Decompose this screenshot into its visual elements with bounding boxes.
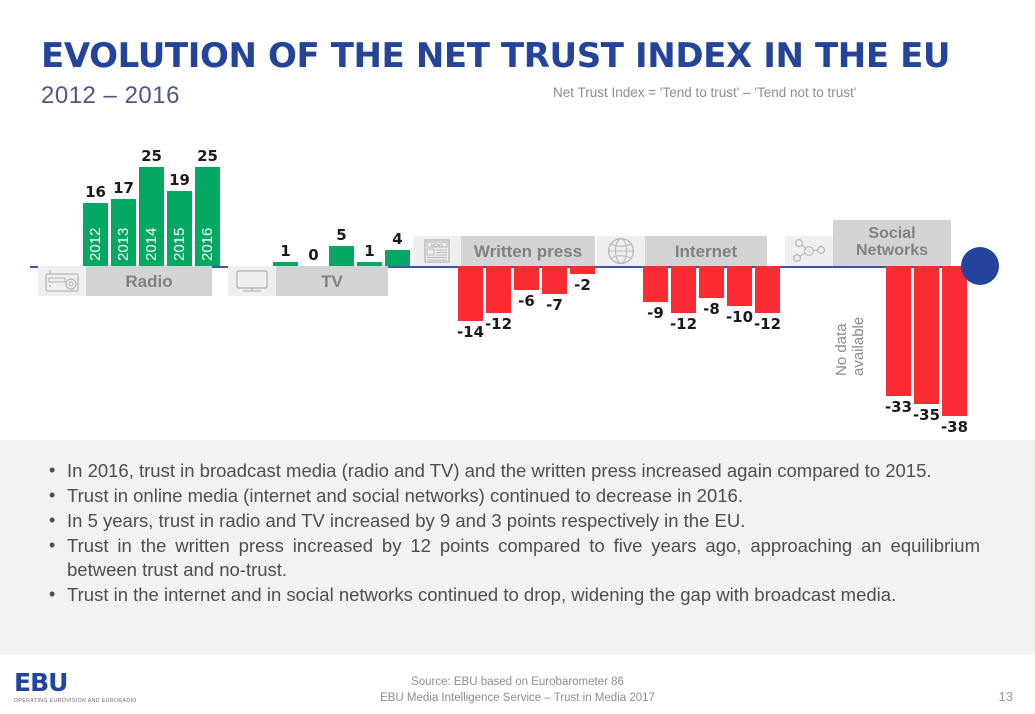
bar-internet-2016: [755, 266, 780, 313]
tv-icon: [228, 266, 276, 296]
bar-value-label: -14: [456, 323, 486, 341]
bar-value-label: 4: [383, 230, 413, 248]
bar-value-label: 0: [299, 246, 329, 264]
bar-social-networks-2015: [914, 266, 939, 404]
insight-bullet: In 2016, trust in broadcast media (radio…: [45, 459, 980, 483]
category-label-internet: Internet: [645, 236, 767, 266]
category-band-social-networks: ASocialNetworks: [785, 236, 951, 266]
bar-year-label: 2014: [143, 228, 160, 261]
category-label-radio: Radio: [86, 266, 212, 296]
bar-internet-2015: [727, 266, 752, 306]
page-title: EVOLUTION OF THE NET TRUST INDEX IN THE …: [41, 36, 950, 76]
insight-bullet-list: In 2016, trust in broadcast media (radio…: [45, 459, 980, 608]
no-data-available-label: No dataavailable: [833, 317, 868, 376]
bar-value-label: 17: [109, 179, 139, 197]
category-band-internet: Internet: [597, 236, 767, 266]
bar-social-networks-2014: [886, 266, 911, 396]
bar-tv-2014: [329, 246, 354, 266]
accent-dot: [961, 247, 999, 285]
category-band-written-press: NEWSWritten press: [413, 236, 595, 266]
bar-value-label: 1: [271, 242, 301, 260]
bar-written-press-2015: [542, 266, 567, 294]
bar-value-label: -33: [884, 398, 914, 416]
insight-bullet: Trust in online media (internet and soci…: [45, 484, 980, 508]
bar-value-label: -35: [912, 406, 942, 424]
insight-bullet: Trust in the internet and in social netw…: [45, 583, 980, 607]
radio-icon: [38, 266, 86, 296]
bar-value-label: 25: [193, 147, 223, 165]
bar-value-label: 19: [165, 171, 195, 189]
bar-year-label: 2013: [115, 228, 132, 261]
source-credit: Source: EBU based on Eurobarometer 86 EB…: [0, 675, 1035, 706]
bar-value-label: -12: [484, 315, 514, 333]
page-subtitle: 2012 – 2016: [41, 82, 180, 110]
bar-value-label: 16: [81, 183, 111, 201]
bar-value-label: -9: [641, 304, 671, 322]
page-number: 13: [999, 689, 1013, 704]
category-band-radio: Radio: [38, 266, 212, 296]
bar-internet-2014: [699, 266, 724, 298]
bar-written-press-2016: [570, 266, 595, 274]
bar-value-label: 1: [355, 242, 385, 260]
source-line-1: Source: EBU based on Eurobarometer 86: [0, 675, 1035, 691]
insights-panel: In 2016, trust in broadcast media (radio…: [0, 440, 1035, 655]
bar-value-label: 5: [327, 226, 357, 244]
slide-footer: EBU OPERATING EUROVISION AND EURORADIO S…: [0, 655, 1035, 714]
newspaper-icon: NEWS: [413, 236, 461, 266]
category-label-written-press: Written press: [461, 236, 595, 266]
bar-tv-2016: [385, 250, 410, 266]
bar-internet-2013: [671, 266, 696, 313]
bar-value-label: -6: [512, 292, 542, 310]
bar-value-label: -10: [725, 308, 755, 326]
svg-text:NEWS: NEWS: [431, 242, 444, 247]
bar-value-label: 25: [137, 147, 167, 165]
category-band-tv: TV: [228, 266, 388, 296]
net-trust-index-chart: 16201217201325201419201525201610514-14-1…: [0, 140, 1035, 440]
insight-bullet: Trust in the written press increased by …: [45, 534, 980, 582]
bar-value-label: -7: [540, 296, 570, 314]
bar-value-label: -12: [753, 315, 783, 333]
bar-value-label: -38: [940, 418, 970, 436]
bar-year-label: 2015: [171, 228, 188, 261]
bar-written-press-2014: [514, 266, 539, 290]
source-line-2: EBU Media Intelligence Service – Trust i…: [0, 691, 1035, 707]
bar-value-label: -2: [568, 276, 598, 294]
definition-note: Net Trust Index = 'Tend to trust' – 'Ten…: [553, 85, 856, 100]
category-label-tv: TV: [276, 266, 388, 296]
bar-social-networks-2016: [942, 266, 967, 416]
bar-internet-2012: [643, 266, 668, 302]
bar-year-label: 2016: [199, 228, 216, 261]
svg-text:A: A: [808, 249, 811, 254]
bar-value-label: -8: [697, 300, 727, 318]
insight-bullet: In 5 years, trust in radio and TV increa…: [45, 509, 980, 533]
bar-year-label: 2012: [87, 228, 104, 261]
bar-written-press-2012: [458, 266, 483, 321]
bar-value-label: -12: [669, 315, 699, 333]
category-label-social-networks: SocialNetworks: [833, 220, 951, 266]
bar-written-press-2013: [486, 266, 511, 313]
social-network-icon: A: [785, 236, 833, 266]
globe-icon: [597, 236, 645, 266]
